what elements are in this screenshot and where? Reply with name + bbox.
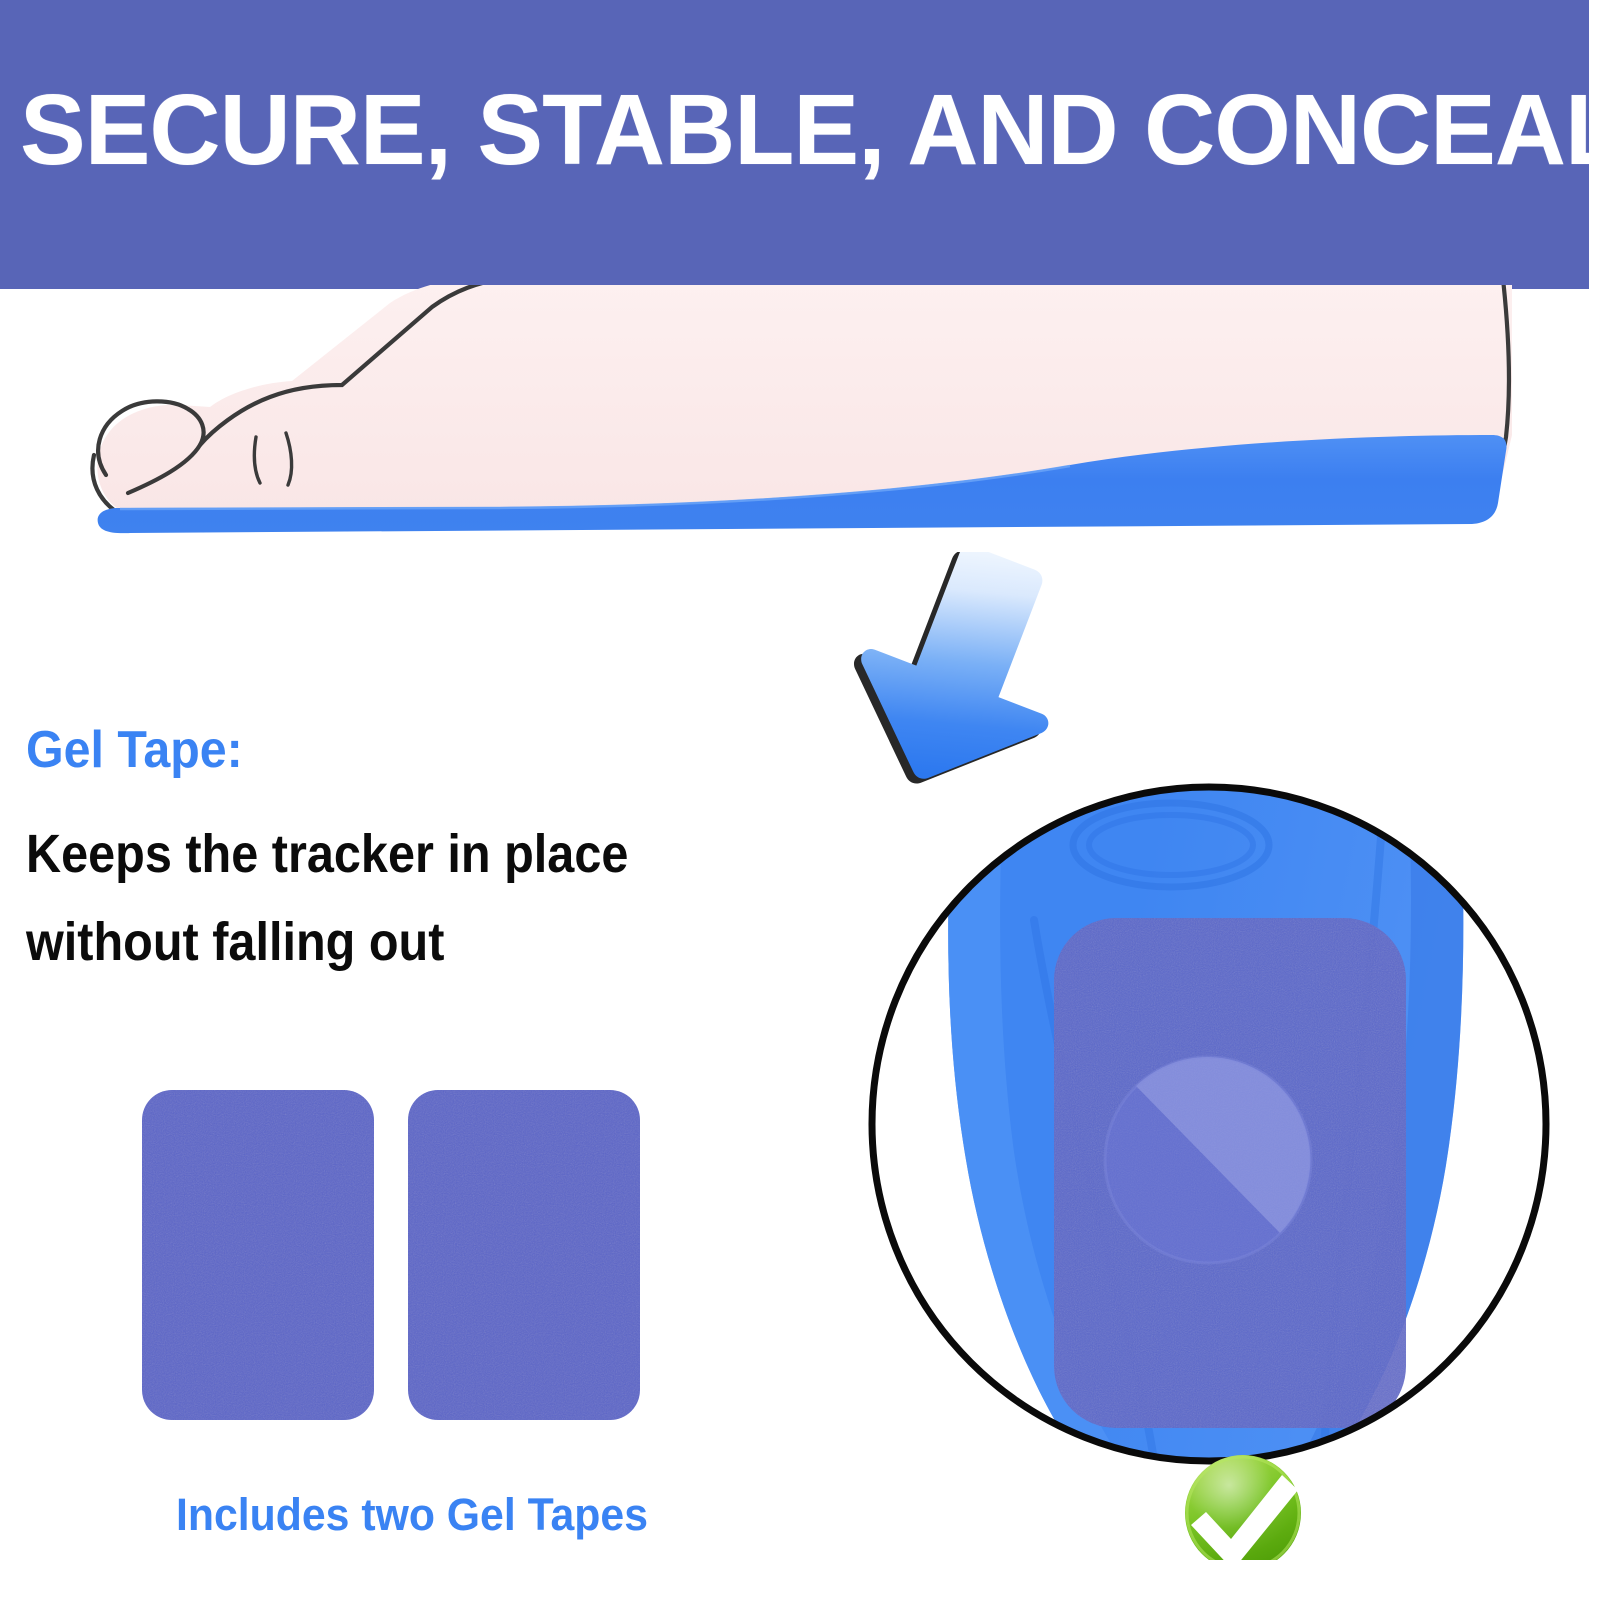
gel-tape-description: Keeps the tracker in place without falli… [26,810,764,986]
gel-tape-description-line-1: Keeps the tracker in place [26,810,764,898]
gel-tape-swatch-2 [408,1090,640,1420]
gel-tape-heading: Gel Tape: [26,722,243,778]
gel-tape-swatches [140,1080,660,1440]
magnified-heel-detail [846,760,1586,1560]
gel-tape-swatch-1 [142,1090,374,1420]
gel-tape-description-line-2: without falling out [26,898,764,986]
check-badge [1185,1455,1301,1560]
page-title: SECURE, STABLE, AND CONCEALE [20,78,1566,182]
infographic-page: SECURE, STABLE, AND CONCEALE [0,0,1600,1600]
header-banner: SECURE, STABLE, AND CONCEALE [0,0,1589,289]
foot-on-insole-illustration [60,285,1550,545]
includes-gel-tapes-caption: Includes two Gel Tapes [108,1490,716,1540]
